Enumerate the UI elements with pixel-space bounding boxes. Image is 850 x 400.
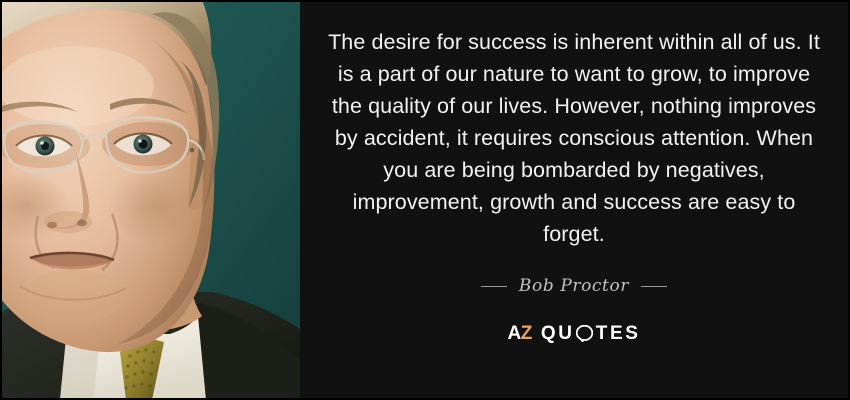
quote-panel: The desire for success is inherent withi… <box>300 2 848 398</box>
author-name[interactable]: Bob Proctor <box>519 276 629 296</box>
logo-letter-z: Z <box>521 323 532 344</box>
quote-card: The desire for success is inherent withi… <box>0 0 850 400</box>
azquotes-logo[interactable]: AZ QU TES <box>507 324 640 343</box>
logo-letter-s: S <box>625 324 640 343</box>
author-attribution: Bob Proctor <box>481 276 667 296</box>
quote-text: The desire for success is inherent withi… <box>324 26 824 250</box>
author-portrait-photo <box>2 2 300 398</box>
logo-letter-q: Q <box>541 324 558 343</box>
logo-letter-e: E <box>610 324 625 343</box>
logo-letter-u: U <box>558 324 574 343</box>
logo-letter-a: A <box>507 323 520 344</box>
author-rule-right <box>641 286 667 287</box>
author-rule-left <box>481 286 507 287</box>
logo-letter-t: T <box>596 324 610 343</box>
logo-quotes-word: QU TES <box>541 324 641 343</box>
speech-bubble-icon <box>576 325 593 342</box>
logo-az-mark: AZ <box>507 324 531 343</box>
